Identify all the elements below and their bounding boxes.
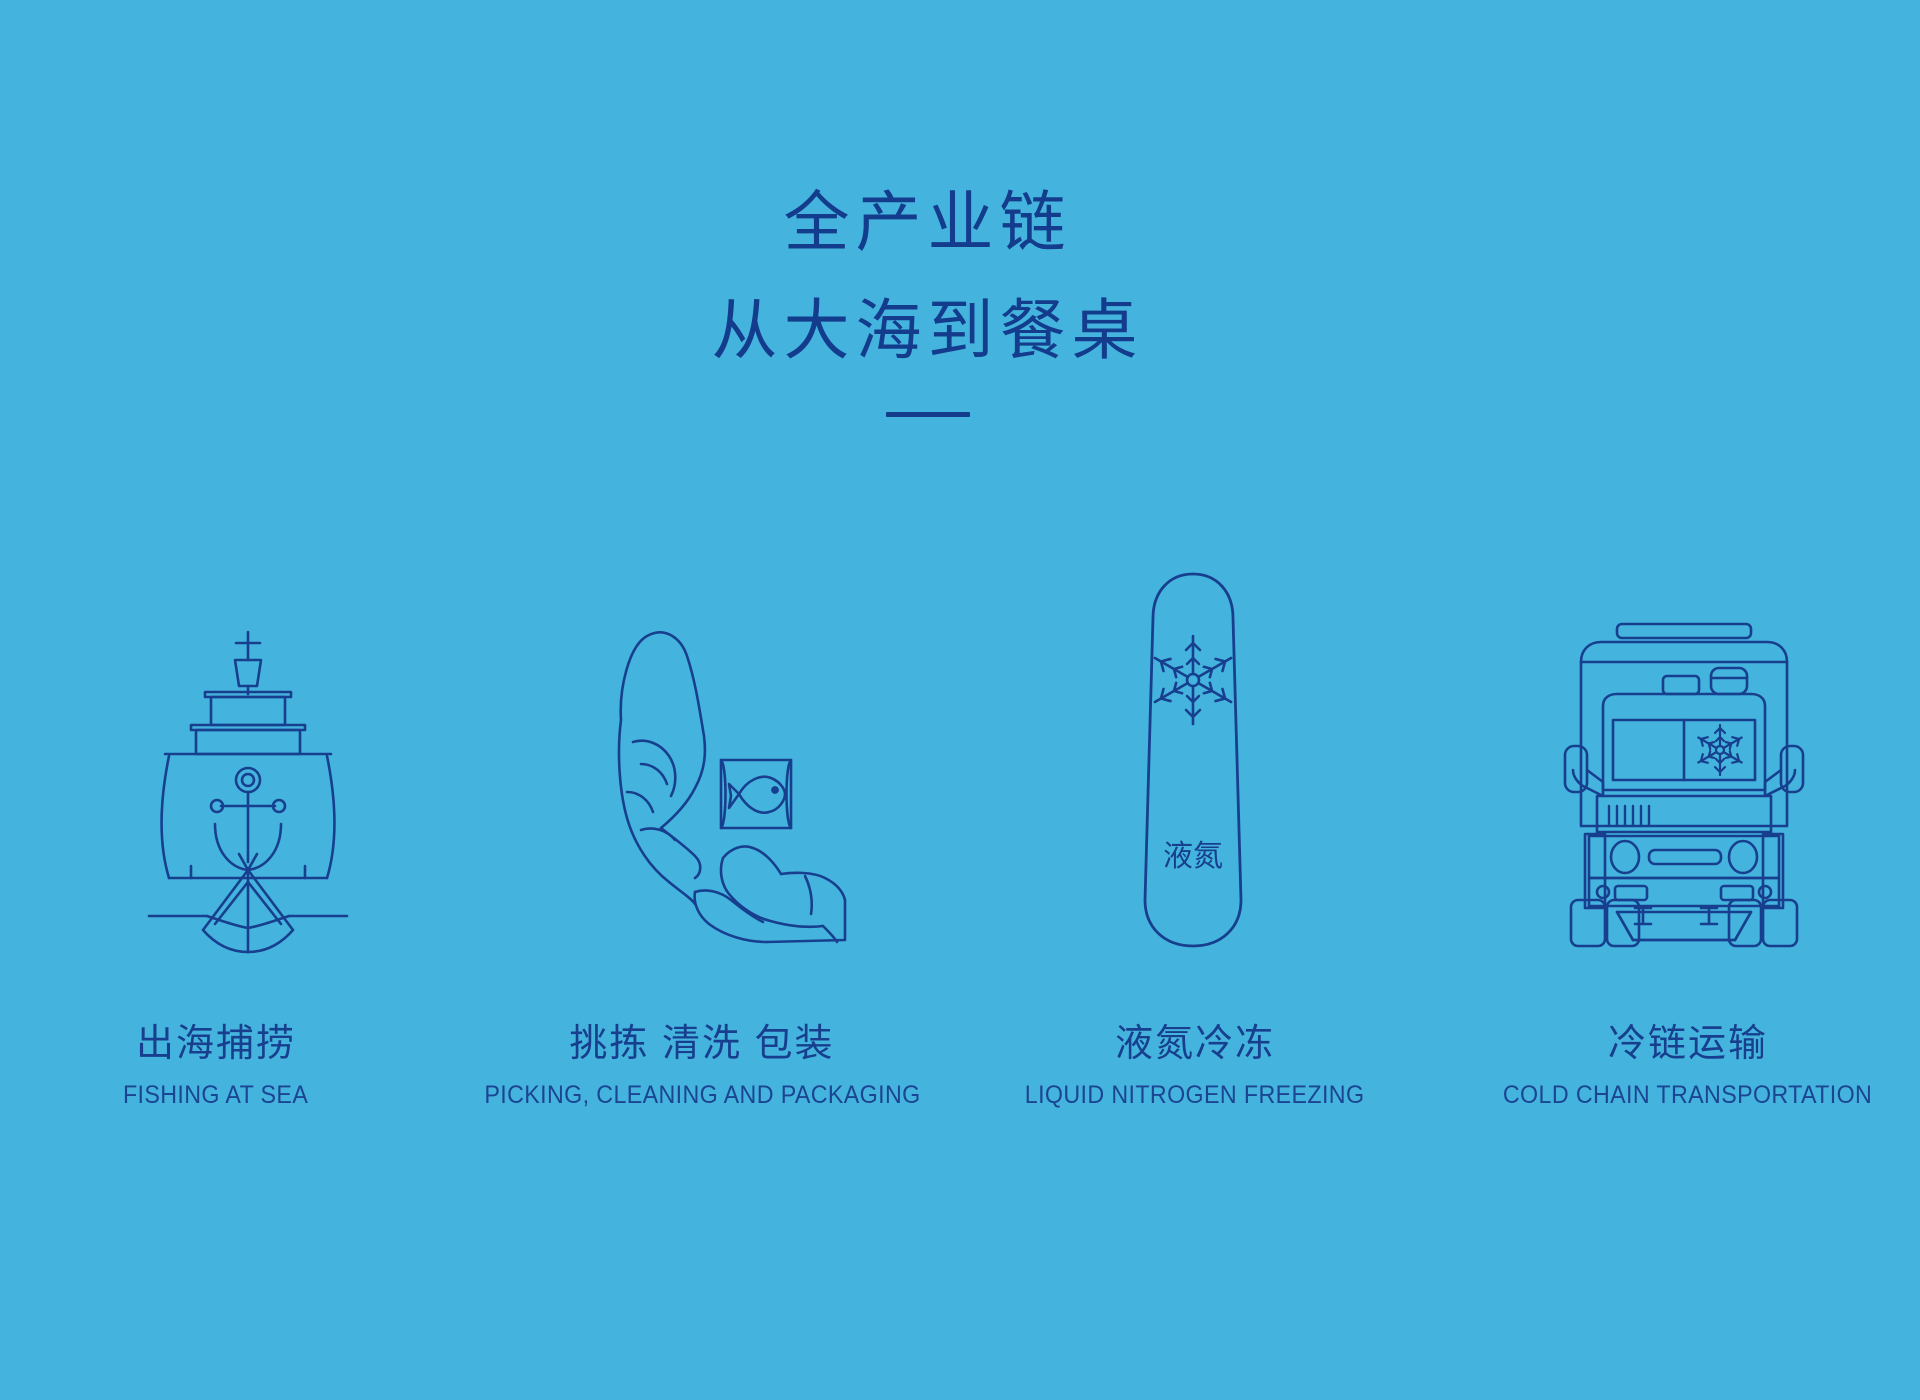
step-labels: 出海捕捞 FISHING AT SEA [116,1022,315,1110]
step-labels: 冷链运输 COLD CHAIN TRANSPORTATION [1489,1022,1886,1110]
step-label-en: FISHING AT SEA [123,1080,308,1110]
step-liquid-nitrogen-freezing[interactable]: 液氮 液氮冷冻 LIQUID NITROGEN FREEZING [960,520,1440,1110]
step-labels: 液氮冷冻 LIQUID NITROGEN FREEZING [1012,1022,1377,1110]
step-label-cn: 挑拣 清洗 包装 [468,1022,937,1066]
fishing-boat-with-anchor-icon [143,520,353,950]
page-root: 全产业链 从大海到餐桌 [0,0,1920,1400]
tank-text: 液氮 [1163,840,1223,873]
step-label-en: COLD CHAIN TRANSPORTATION [1503,1080,1872,1110]
hands-with-packaged-fish-icon [591,520,861,950]
step-picking-cleaning-packaging[interactable]: 挑拣 清洗 包装 PICKING, CLEANING AND PACKAGING [480,520,960,1110]
step-label-en: LIQUID NITROGEN FREEZING [1025,1080,1365,1110]
step-cold-chain-transportation[interactable]: 冷链运输 COLD CHAIN TRANSPORTATION [1440,520,1920,1110]
liquid-nitrogen-tank-icon: 液氮 [1133,520,1253,950]
step-label-cn: 冷链运输 [1489,1022,1886,1066]
step-label-en: PICKING, CLEANING AND PACKAGING [484,1080,920,1110]
page-header: 全产业链 从大海到餐桌 [0,170,1855,417]
title-divider-wrap [0,412,1855,417]
title-divider [886,412,970,417]
refrigerated-truck-icon [1559,520,1809,950]
step-label-cn: 液氮冷冻 [1012,1022,1377,1066]
step-labels: 挑拣 清洗 包装 PICKING, CLEANING AND PACKAGING [468,1022,937,1110]
page-title-line1: 全产业链 [0,170,1855,278]
step-label-cn: 出海捕捞 [116,1022,315,1066]
step-fishing-at-sea[interactable]: 出海捕捞 FISHING AT SEA [0,520,480,1110]
page-title-line2: 从大海到餐桌 [0,278,1855,386]
process-steps: 出海捕捞 FISHING AT SEA [0,520,1920,1110]
